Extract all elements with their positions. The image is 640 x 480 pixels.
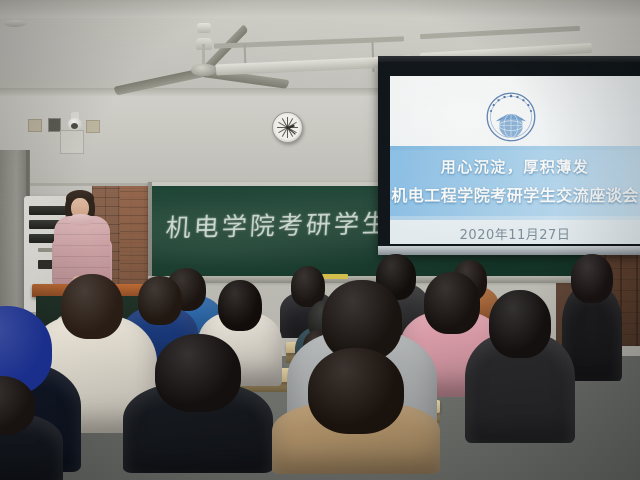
navy-jacket-student-head [138,276,182,325]
wall-clock [272,112,303,143]
classroom-photo-scene: 机电学院考研学生交 [0,0,640,480]
smoke-detector-icon [4,20,26,27]
ceiling-shadow [0,0,640,18]
pink-hoodie-student-head [424,272,480,334]
bun-hair-student-head [218,280,262,331]
wall-plate [28,119,42,132]
university-emblem-logo [484,90,538,144]
dome-camera-lens [71,123,78,129]
camera-backplate [60,130,84,154]
glasses-student-head [571,254,613,303]
projector-screen-bottom-bar [378,246,640,255]
chalk-piece[interactable] [322,274,348,279]
speaker-collar [68,214,94,226]
slide-slogan: 用心沉淀，厚积薄发 [390,156,640,177]
tan-coat-student-head [308,348,404,434]
blackboard-edge-shadow [148,182,152,280]
clock-face [275,115,300,140]
projected-slide: 用心沉淀，厚积薄发 机电工程学院考研学生交流座谈会 2020年11月27日 [390,76,640,244]
slide-title: 机电工程学院考研学生交流座谈会 [390,182,640,206]
ceiling-fan-icon [191,64,217,76]
long-hair-student-head [489,290,551,358]
cream-puffer-student-head [61,274,123,339]
clock-center-pin [286,126,289,129]
ceiling-mount-box [197,23,211,33]
black-jacket-student-head [155,334,241,412]
slide-band-shadow [390,216,640,220]
wall-plate [86,120,100,133]
slide-date: 2020年11月27日 [390,224,640,243]
